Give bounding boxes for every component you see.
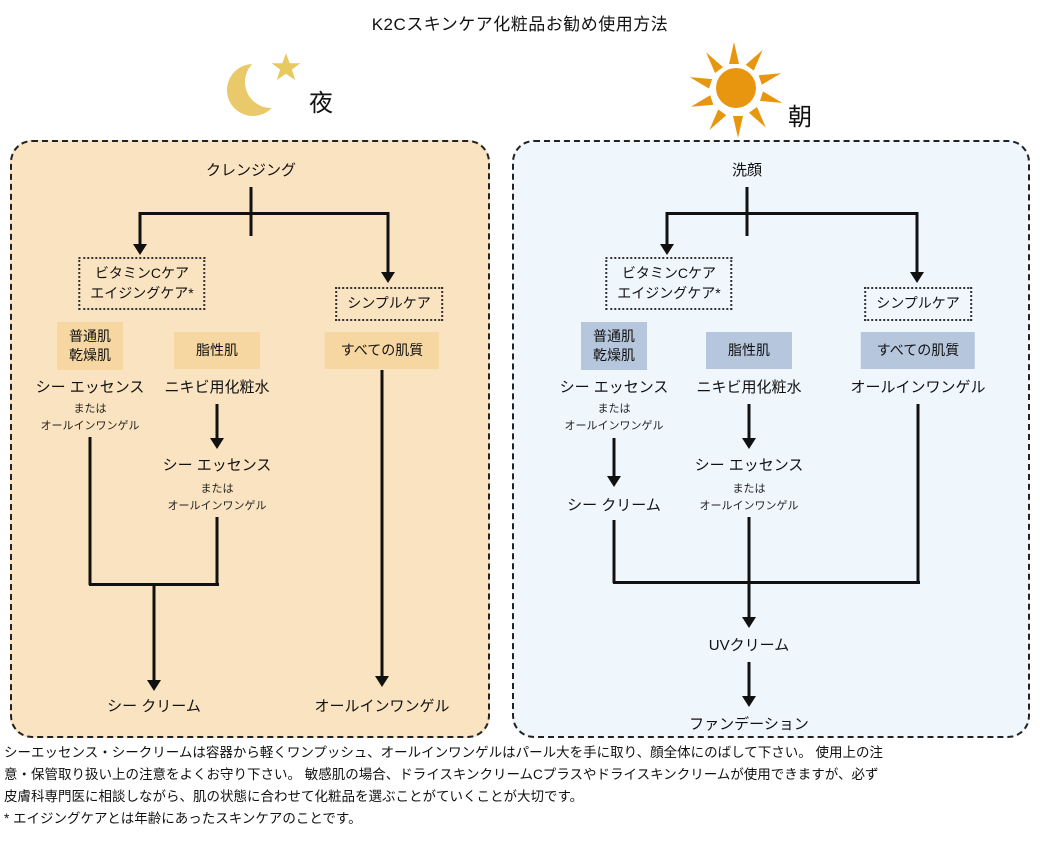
- night-normal-step1-alt2: オールインワンゲル: [41, 419, 140, 434]
- type-normal-line2: 乾燥肌: [69, 346, 111, 365]
- connector: [748, 581, 751, 621]
- morning-normal-step2: シー クリーム: [567, 497, 661, 516]
- arrow-head: [375, 676, 389, 687]
- arrow-head: [210, 438, 224, 449]
- care-vitamin-line1: ビタミンCケア: [617, 264, 720, 284]
- morning-oily-step2-alt2: オールインワンゲル: [700, 499, 799, 514]
- arrow-head: [910, 272, 924, 283]
- morning-all-step1: オールインワンゲル: [850, 379, 985, 398]
- connector: [387, 212, 390, 274]
- arrow-head: [147, 680, 161, 691]
- morning-type-oily-box: 脂性肌: [706, 332, 792, 369]
- morning-header: 朝: [690, 42, 812, 134]
- night-type-oily-box: 脂性肌: [174, 332, 260, 369]
- morning-type-all-box: すべての肌質: [861, 332, 975, 369]
- night-panel: クレンジング ビタミンCケア エイジングケア* シンプルケア 普通肌 乾燥肌 脂…: [10, 140, 490, 738]
- care-vitamin-line2: エイジングケア*: [617, 284, 720, 304]
- arrow-head: [742, 696, 756, 707]
- connector: [666, 212, 918, 215]
- night-type-normal-box: 普通肌 乾燥肌: [57, 322, 123, 370]
- night-oily-step2-alt2: オールインワンゲル: [168, 499, 267, 514]
- arrow-head: [381, 272, 395, 283]
- arrow-head: [607, 476, 621, 487]
- morning-oily-step2: シー エッセンス: [695, 457, 804, 476]
- footnote-line-3: 皮膚科専門医に相談しながら、肌の状態に合わせて化粧品を選ぶことがていくことが大切…: [4, 786, 1036, 808]
- night-oily-step2-alt1: または: [201, 482, 234, 497]
- night-root-node: クレンジング: [206, 162, 296, 181]
- type-normal-line2: 乾燥肌: [593, 346, 635, 365]
- connector: [216, 404, 219, 442]
- type-oily-label: 脂性肌: [196, 341, 238, 360]
- morning-type-normal-box: 普通肌 乾燥肌: [581, 322, 647, 370]
- morning-end-foundation: ファンデーション: [689, 716, 809, 735]
- morning-root-node: 洗顔: [732, 162, 762, 181]
- connector: [89, 437, 92, 585]
- night-oily-step2: シー エッセンス: [163, 457, 272, 476]
- connector: [153, 583, 156, 683]
- night-normal-step1-alt1: または: [74, 402, 107, 417]
- care-simple-label: シンプルケア: [876, 294, 960, 314]
- night-end-gel: オールインワンゲル: [314, 698, 449, 717]
- type-all-label: すべての肌質: [341, 341, 423, 360]
- night-care-vitamin-box: ビタミンCケア エイジングケア*: [78, 257, 205, 310]
- connector: [666, 212, 669, 246]
- connector: [916, 212, 919, 274]
- night-header: 夜: [225, 52, 333, 120]
- connector: [613, 581, 920, 584]
- morning-normal-step1: シー エッセンス: [560, 379, 669, 398]
- morning-care-vitamin-box: ビタミンCケア エイジングケア*: [605, 257, 732, 310]
- morning-normal-step1-alt2: オールインワンゲル: [565, 419, 664, 434]
- night-care-simple-box: シンプルケア: [335, 287, 443, 321]
- connector: [139, 212, 389, 215]
- type-normal-line1: 普通肌: [69, 327, 111, 346]
- morning-care-simple-box: シンプルケア: [864, 287, 972, 321]
- footnote-line-2: 意・保管取り扱い上の注意をよくお守り下さい。 敏感肌の場合、ドライスキンクリーム…: [4, 764, 1036, 786]
- night-oily-step1: ニキビ用化粧水: [164, 379, 269, 398]
- care-vitamin-line1: ビタミンCケア: [90, 264, 193, 284]
- footnote-line-4: * エイジングケアとは年齢にあったスキンケアのことです。: [4, 808, 1036, 830]
- connector: [613, 438, 616, 480]
- morning-normal-step1-alt1: または: [598, 402, 631, 417]
- night-end-cream: シー クリーム: [107, 698, 201, 717]
- morning-panel: 洗顔 ビタミンCケア エイジングケア* シンプルケア 普通肌 乾燥肌 脂性肌 す…: [512, 140, 1030, 738]
- type-all-label: すべての肌質: [877, 341, 959, 360]
- crescent-moon-icon: [225, 52, 303, 120]
- connector: [216, 517, 219, 585]
- arrow-head: [742, 438, 756, 449]
- arrow-head: [133, 244, 147, 255]
- sun-icon: [690, 42, 782, 134]
- connector: [917, 404, 920, 583]
- care-simple-label: シンプルケア: [347, 294, 431, 314]
- arrow-head: [660, 244, 674, 255]
- star-icon: [271, 52, 301, 82]
- connector: [748, 404, 751, 442]
- footnotes: シーエッセンス・シークリームは容器から軽くワンプッシュ、オールインワンゲルはパー…: [4, 742, 1036, 829]
- arrow-head: [742, 617, 756, 628]
- night-normal-step1: シー エッセンス: [36, 379, 145, 398]
- connector: [748, 662, 751, 700]
- page-title: K2Cスキンケア化粧品お勧め使用方法: [0, 10, 1040, 35]
- type-oily-label: 脂性肌: [728, 341, 770, 360]
- morning-oily-step1: ニキビ用化粧水: [696, 379, 801, 398]
- connector: [139, 212, 142, 246]
- night-header-label: 夜: [309, 92, 333, 120]
- connector: [613, 520, 616, 583]
- morning-oily-step2-alt1: または: [733, 482, 766, 497]
- care-vitamin-line2: エイジングケア*: [90, 284, 193, 304]
- connector: [381, 370, 384, 680]
- morning-end-uv: UVクリーム: [709, 637, 789, 656]
- morning-header-label: 朝: [788, 106, 812, 134]
- type-normal-line1: 普通肌: [593, 327, 635, 346]
- diagram-root: K2Cスキンケア化粧品お勧め使用方法 夜 朝: [0, 0, 1040, 849]
- footnote-line-1: シーエッセンス・シークリームは容器から軽くワンプッシュ、オールインワンゲルはパー…: [4, 742, 1036, 764]
- night-type-all-box: すべての肌質: [325, 332, 439, 369]
- connector: [748, 517, 751, 583]
